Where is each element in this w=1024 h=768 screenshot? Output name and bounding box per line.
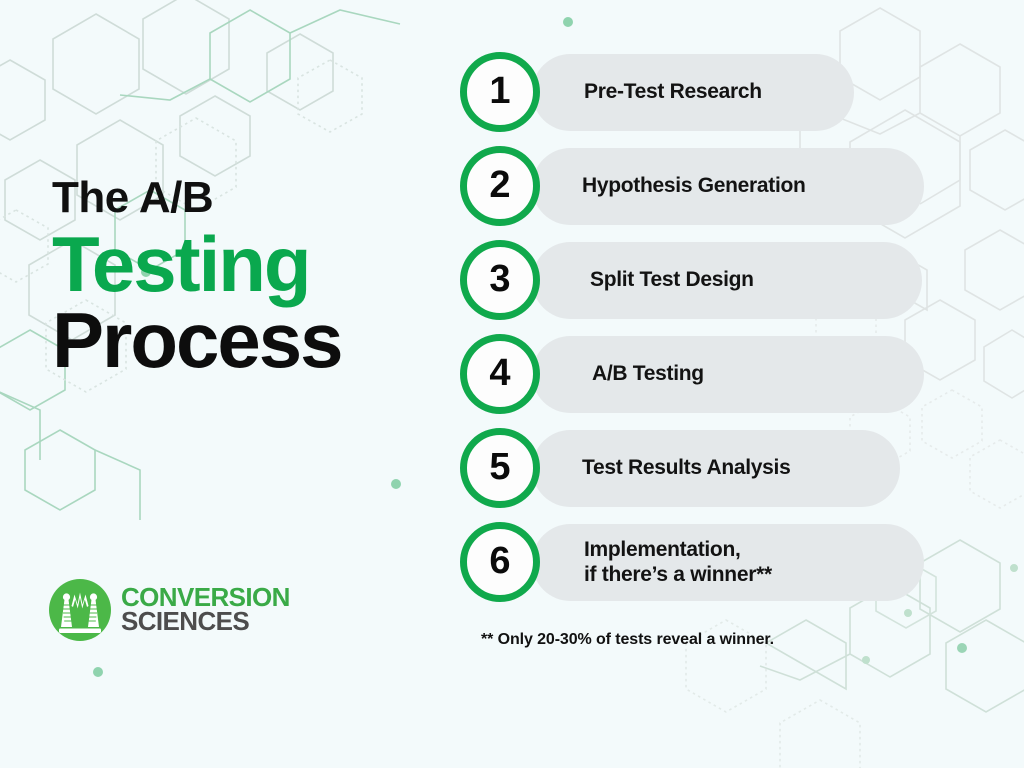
step-row-4[interactable]: A/B Testing 4	[460, 328, 880, 422]
logo-wordmark: CONVERSION SCIENCES	[121, 586, 290, 634]
conversion-sciences-logo-mark	[48, 578, 112, 642]
step-number-2: 2	[489, 166, 510, 204]
step-pill-3[interactable]: Split Test Design	[532, 242, 922, 319]
step-row-3[interactable]: Split Test Design 3	[460, 234, 880, 328]
title-line-testing: Testing	[52, 226, 422, 302]
step-row-5[interactable]: Test Results Analysis 5	[460, 422, 880, 516]
step-number-5: 5	[489, 448, 510, 486]
process-steps-list: Pre-Test Research 1 Hypothesis Generatio…	[460, 46, 880, 610]
title-line-the-ab: The A/B	[52, 176, 422, 220]
page-title: The A/B Testing Process	[52, 176, 422, 379]
step-pill-6[interactable]: Implementation, if there’s a winner**	[532, 524, 924, 601]
step-badge-6[interactable]: 6	[460, 522, 540, 602]
step-label-3: Split Test Design	[590, 268, 754, 293]
step-number-4: 4	[489, 354, 510, 392]
step-label-2: Hypothesis Generation	[582, 174, 806, 199]
step-badge-1[interactable]: 1	[460, 52, 540, 132]
step-badge-5[interactable]: 5	[460, 428, 540, 508]
infographic-canvas: The A/B Testing Process	[0, 0, 1024, 768]
footnote-text: ** Only 20-30% of tests reveal a winner.	[481, 631, 774, 649]
title-line-process: Process	[52, 302, 422, 378]
step-row-2[interactable]: Hypothesis Generation 2	[460, 140, 880, 234]
brand-logo[interactable]: CONVERSION SCIENCES	[48, 578, 290, 642]
step-badge-4[interactable]: 4	[460, 334, 540, 414]
step-pill-4[interactable]: A/B Testing	[532, 336, 924, 413]
step-label-1: Pre-Test Research	[584, 80, 762, 105]
step-badge-2[interactable]: 2	[460, 146, 540, 226]
step-row-1[interactable]: Pre-Test Research 1	[460, 46, 880, 140]
step-label-5: Test Results Analysis	[582, 456, 790, 481]
step-pill-1[interactable]: Pre-Test Research	[532, 54, 854, 131]
step-number-3: 3	[489, 260, 510, 298]
step-number-1: 1	[489, 72, 510, 110]
step-number-6: 6	[489, 542, 510, 580]
step-badge-3[interactable]: 3	[460, 240, 540, 320]
logo-word-sciences: SCIENCES	[121, 610, 290, 634]
step-label-4: A/B Testing	[592, 362, 704, 387]
step-pill-2[interactable]: Hypothesis Generation	[532, 148, 924, 225]
step-label-6: Implementation, if there’s a winner**	[584, 538, 772, 588]
step-pill-5[interactable]: Test Results Analysis	[532, 430, 900, 507]
step-row-6[interactable]: Implementation, if there’s a winner** 6	[460, 516, 880, 610]
